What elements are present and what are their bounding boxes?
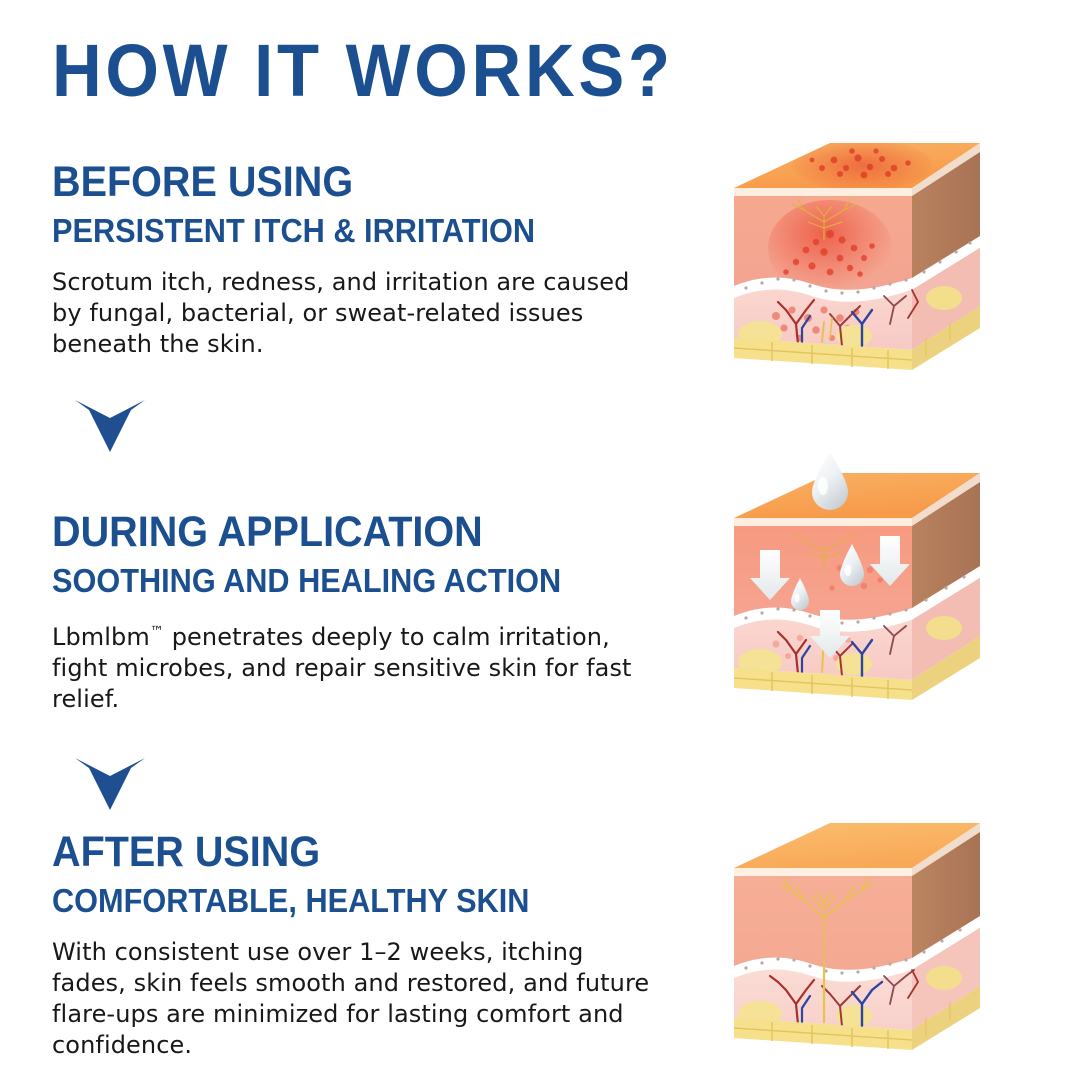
page-title: HOW IT WORKS? xyxy=(52,32,674,110)
droplet-large xyxy=(812,452,848,510)
section-heading: BEFORE USING xyxy=(52,158,604,206)
brand-name: Lbmlbm xyxy=(52,623,150,651)
chevron-down-icon xyxy=(75,396,145,459)
section-after: AFTER USING COMFORTABLE, HEALTHY SKIN Wi… xyxy=(52,828,652,1061)
section-subheading: COMFORTABLE, HEALTHY SKIN xyxy=(52,881,610,921)
section-during: DURING APPLICATION SOOTHING AND HEALING … xyxy=(52,508,652,715)
section-body: Lbmlbm™ penetrates deeply to calm irrita… xyxy=(52,617,652,715)
section-body: Scrotum itch, redness, and irritation ar… xyxy=(52,267,652,360)
skin-diagram-inflamed xyxy=(712,138,1012,383)
skin-diagram-healthy xyxy=(712,818,1012,1063)
section-subheading: PERSISTENT ITCH & IRRITATION xyxy=(52,211,610,251)
section-before: BEFORE USING PERSISTENT ITCH & IRRITATIO… xyxy=(52,158,652,360)
infographic-page: HOW IT WORKS? BEFORE USING PERSISTENT IT… xyxy=(0,0,1080,1080)
section-heading: DURING APPLICATION xyxy=(52,508,604,556)
section-heading: AFTER USING xyxy=(52,828,604,876)
section-subheading: SOOTHING AND HEALING ACTION xyxy=(52,561,610,601)
trademark-symbol: ™ xyxy=(150,624,164,640)
skin-diagram-absorbing xyxy=(712,440,1012,715)
chevron-down-icon xyxy=(75,754,145,817)
section-body: With consistent use over 1–2 weeks, itch… xyxy=(52,937,652,1061)
